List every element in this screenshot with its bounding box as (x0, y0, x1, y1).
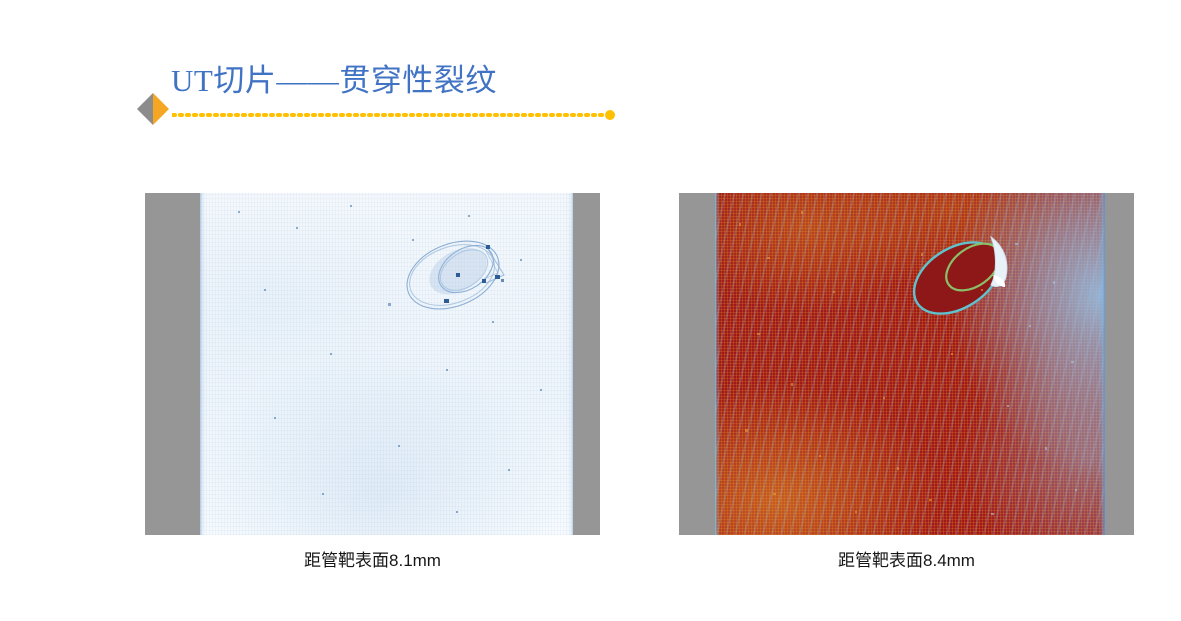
figure-caption: 距管靶表面8.4mm (679, 546, 1134, 571)
figure-caption: 距管靶表面8.1mm (145, 546, 600, 571)
page-title: UT切片——贯穿性裂纹 (171, 58, 497, 104)
ut-slice-figure-84: 距管靶表面8.4mm (679, 193, 1134, 535)
dotted-rule-icon (172, 107, 616, 117)
ut-scan-image-84[interactable] (679, 193, 1134, 535)
ut-slice-figure-81: 距管靶表面8.1mm (145, 193, 600, 535)
scan-field (200, 193, 573, 535)
scan-field (715, 193, 1105, 535)
slide-title-block: UT切片——贯穿性裂纹 (135, 58, 635, 128)
diamond-bullet-icon (135, 91, 171, 127)
ut-scan-image-81[interactable] (145, 193, 600, 535)
